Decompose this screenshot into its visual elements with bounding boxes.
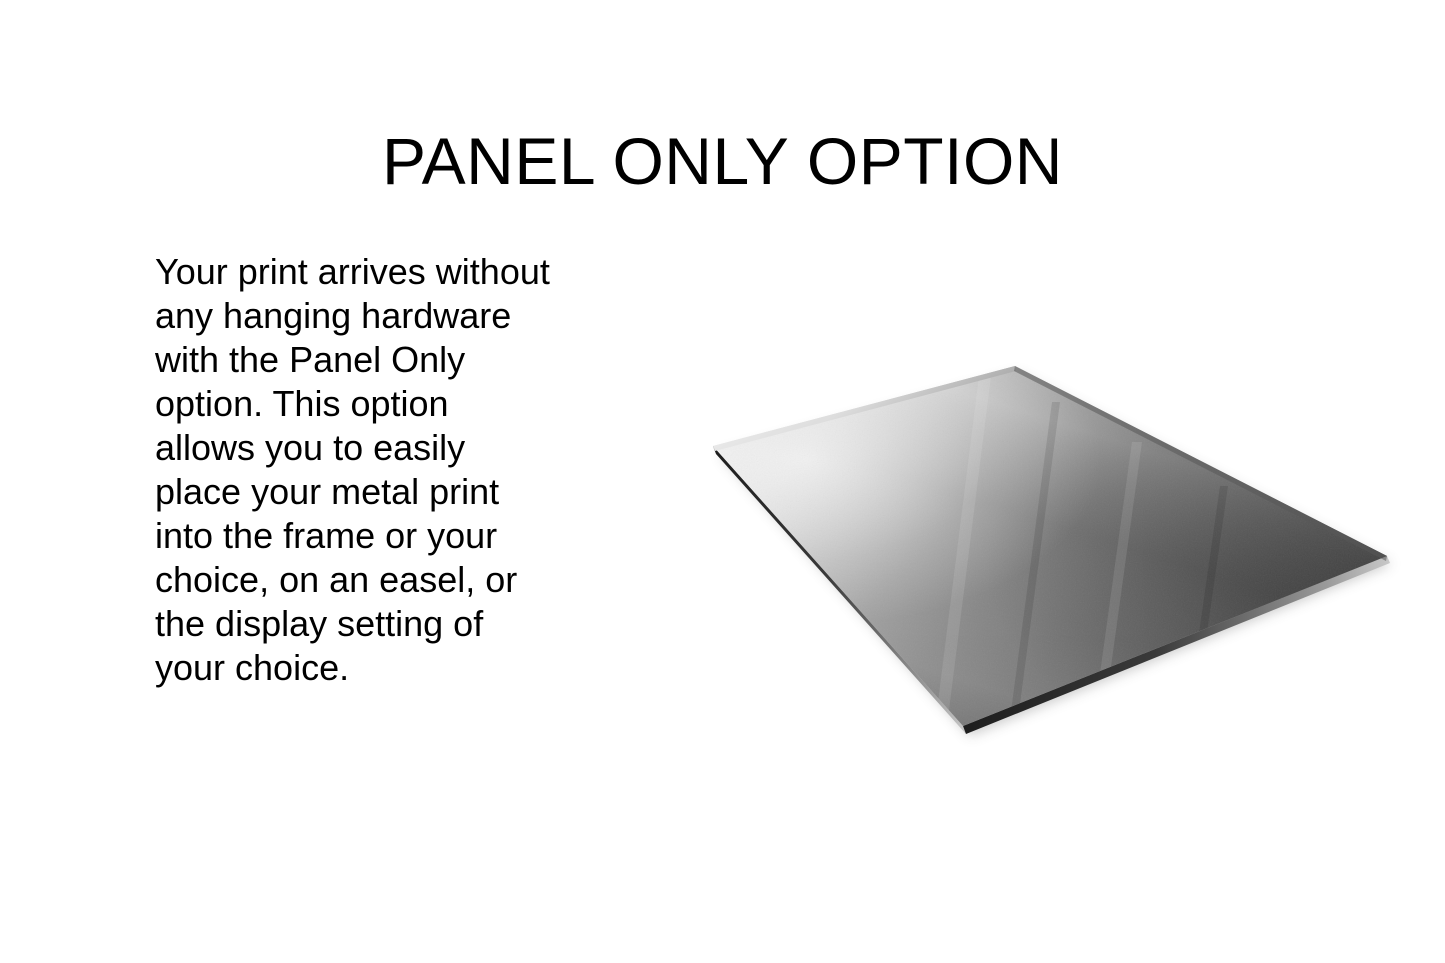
copy-line: with the Panel Only — [155, 338, 585, 382]
body-paragraph: Your print arrives without any hanging h… — [155, 250, 585, 690]
slide-canvas: PANEL ONLY OPTION Your print arrives wit… — [0, 0, 1445, 963]
page-title: PANEL ONLY OPTION — [0, 122, 1445, 200]
metal-panel-svg — [680, 346, 1420, 766]
copy-line: allows you to easily — [155, 426, 585, 470]
metal-panel-illustration — [680, 346, 1420, 766]
copy-line: option. This option — [155, 382, 585, 426]
copy-line: any hanging hardware — [155, 294, 585, 338]
copy-line: into the frame or your — [155, 514, 585, 558]
copy-line: your choice. — [155, 646, 585, 690]
copy-line: Your print arrives without — [155, 250, 585, 294]
copy-line: place your metal print — [155, 470, 585, 514]
copy-line: choice, on an easel, or — [155, 558, 585, 602]
copy-line: the display setting of — [155, 602, 585, 646]
